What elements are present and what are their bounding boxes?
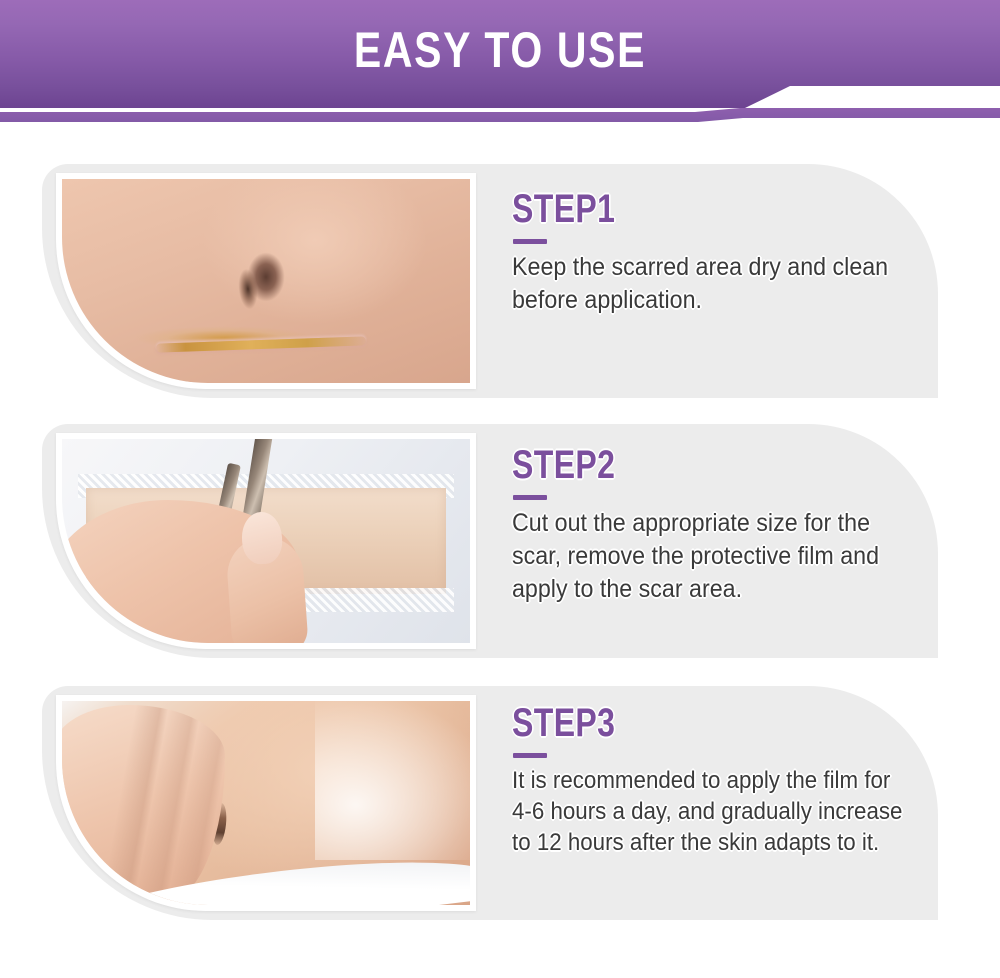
step-2-description: Cut out the appropriate size for the sca… — [512, 507, 903, 606]
step-1-divider — [513, 239, 547, 244]
easy-to-use-infographic: EASY TO USE STEP1 Keep the scarred area … — [0, 0, 1000, 978]
step-2-title: STEP2 — [512, 444, 848, 486]
step-2-divider — [513, 495, 547, 500]
header-banner: EASY TO USE — [0, 0, 1000, 124]
step-2-photo-frame — [56, 433, 476, 649]
hand-on-abdomen-photo — [62, 701, 470, 905]
header-accent-stripe — [0, 108, 1000, 124]
step-2-text-block: STEP2 Cut out the appropriate size for t… — [512, 444, 932, 606]
step-3-divider — [513, 753, 547, 758]
scarred-abdomen-photo — [62, 179, 470, 383]
step-3-photo-frame — [56, 695, 476, 911]
fingernail — [240, 511, 283, 565]
step-card-3: STEP3 It is recommended to apply the fil… — [42, 686, 938, 920]
step-3-text-block: STEP3 It is recommended to apply the fil… — [512, 702, 932, 858]
step-1-photo-frame — [56, 173, 476, 389]
step-card-1: STEP1 Keep the scarred area dry and clea… — [42, 164, 938, 398]
step-3-title: STEP3 — [512, 702, 848, 744]
step-card-2: STEP2 Cut out the appropriate size for t… — [42, 424, 938, 658]
page-title: EASY TO USE — [90, 22, 910, 78]
step-1-text-block: STEP1 Keep the scarred area dry and clea… — [512, 188, 932, 317]
resting-hand — [62, 705, 225, 901]
abdomen-highlight — [315, 701, 470, 860]
scissors-cutting-sheet-photo — [62, 439, 470, 643]
step-1-description: Keep the scarred area dry and clean befo… — [512, 251, 903, 317]
step-1-title: STEP1 — [512, 188, 848, 230]
step-3-description: It is recommended to apply the film for … — [512, 765, 903, 858]
